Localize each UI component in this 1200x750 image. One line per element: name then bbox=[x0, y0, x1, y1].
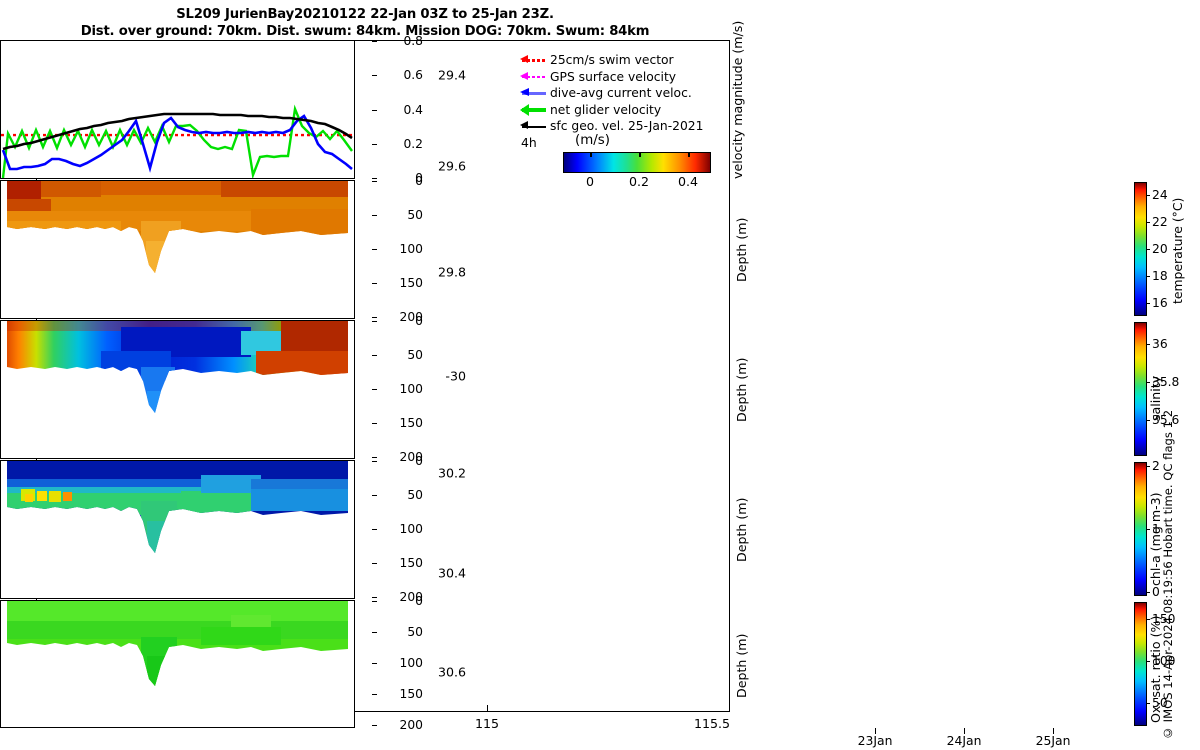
oxygen-ytick-4: 200 bbox=[377, 718, 423, 732]
chla-ytick-2: 100 bbox=[377, 522, 423, 536]
velocity-ytick-2: 0.4 bbox=[377, 103, 423, 117]
legend-item-gps-surface-velocity: GPS surface velocity bbox=[520, 69, 720, 86]
copyright-notice: © IMOS 14-Apr-2024 08:19:56 Hobart time.… bbox=[1161, 410, 1175, 740]
temperature-panel-ylabel: Depth (m) bbox=[734, 190, 749, 310]
temperature-cbar-lab-1: 18 bbox=[1152, 269, 1168, 283]
temperature-cbar-lab-0: 16 bbox=[1152, 296, 1168, 310]
time-tick-1: 24Jan bbox=[947, 733, 982, 748]
temperature-section-panel[interactable] bbox=[0, 180, 355, 319]
salinity-ytick-0: 0 bbox=[377, 314, 423, 328]
temperature-ytick-1: 50 bbox=[377, 208, 423, 222]
map-colorbar-tick-1: 0.2 bbox=[629, 174, 649, 189]
dive-avg-current-icon bbox=[520, 87, 550, 99]
temperature-cbar-lab-2: 20 bbox=[1152, 242, 1168, 256]
velocity-ytick-1: 0.2 bbox=[377, 137, 423, 151]
oxygen-ytick-0: 0 bbox=[377, 594, 423, 608]
oxygen-section-plot bbox=[1, 601, 354, 727]
oxygen-ytick-3: 150 bbox=[377, 687, 423, 701]
sfc-geo-velocity-icon bbox=[520, 120, 550, 132]
temperature-field bbox=[1, 181, 354, 318]
legend-label-gps-surface-velocity: GPS surface velocity bbox=[550, 70, 676, 84]
salinity-ytick-1: 50 bbox=[377, 348, 423, 362]
legend-label-swim-vector: 25cm/s swim vector bbox=[550, 53, 674, 67]
chla-ytick-1: 50 bbox=[377, 488, 423, 502]
oxygen-ytick-1: 50 bbox=[377, 625, 423, 639]
temperature-cbar-lab-4: 24 bbox=[1152, 188, 1168, 202]
oxygen-ytick-2: 100 bbox=[377, 656, 423, 670]
map-colorbar-tick-0: 0 bbox=[586, 174, 594, 189]
oxygen-section-panel[interactable] bbox=[0, 600, 355, 728]
temperature-cbar-title: temperature (°C) bbox=[1170, 186, 1185, 316]
swim-vector-icon bbox=[520, 54, 550, 66]
chla-section-panel[interactable] bbox=[0, 460, 355, 599]
map-colorbar-title: (m/s) bbox=[575, 133, 610, 148]
oxygen-colorbar bbox=[1134, 602, 1147, 726]
salinity-section-panel[interactable] bbox=[0, 320, 355, 459]
velocity-ytick-3: 0.6 bbox=[377, 68, 423, 82]
temperature-ytick-2: 100 bbox=[377, 242, 423, 256]
temperature-ytick-3: 150 bbox=[377, 276, 423, 290]
map-xtick-2: 115 bbox=[475, 716, 499, 731]
time-tick-2: 25Jan bbox=[1036, 733, 1071, 748]
chla-field bbox=[1, 461, 354, 598]
chla-ytick-0: 0 bbox=[377, 454, 423, 468]
legend-item-net-glider-velocity: net glider velocity bbox=[520, 102, 720, 119]
legend-item-sfc-geostrophic-velocity: sfc geo. vel. 25-Jan-2021 bbox=[520, 118, 720, 135]
legend-label-net-glider-velocity: net glider velocity bbox=[550, 103, 661, 117]
net-glider-velocity-icon bbox=[520, 104, 550, 116]
legend-item-swim-vector: 25cm/s swim vector bbox=[520, 52, 720, 69]
oxygen-panel-ylabel: Depth (m) bbox=[734, 608, 749, 723]
velocity-ytick-4: 0.8 bbox=[377, 34, 423, 48]
salinity-ytick-2: 100 bbox=[377, 382, 423, 396]
salinity-colorbar bbox=[1134, 322, 1147, 456]
title-line-2: Dist. over ground: 70km. Dist. swum: 84k… bbox=[0, 23, 730, 40]
salinity-ytick-3: 150 bbox=[377, 416, 423, 430]
title-line-1: SL209 JurienBay20210122 22-Jan 03Z to 25… bbox=[0, 6, 730, 23]
salinity-cbar-lab-2: 36 bbox=[1152, 337, 1168, 351]
map-xtick-3: 115.5 bbox=[694, 716, 730, 731]
legend-label-dive-avg-current: dive-avg current veloc. bbox=[550, 86, 692, 100]
time-tick-0: 23Jan bbox=[858, 733, 893, 748]
gps-surface-velocity-icon bbox=[520, 71, 550, 83]
salinity-panel-ylabel: Depth (m) bbox=[734, 330, 749, 450]
velocity-panel-ylabel: velocity magnitude (m/s) bbox=[730, 40, 745, 179]
legend-interval-label: 4h bbox=[521, 135, 537, 150]
legend-label-sfc-geostrophic-velocity: sfc geo. vel. 25-Jan-2021 bbox=[550, 119, 703, 133]
map-colorbar bbox=[563, 152, 711, 173]
oxygen-field bbox=[1, 601, 354, 727]
map-legend: 25cm/s swim vector GPS surface velocity … bbox=[520, 52, 720, 135]
salinity-field bbox=[1, 321, 354, 427]
chla-cbar-lab-2: 2 bbox=[1152, 459, 1160, 473]
temperature-ytick-0: 0 bbox=[377, 174, 423, 188]
legend-item-dive-avg-current: dive-avg current veloc. bbox=[520, 85, 720, 102]
chla-ytick-3: 150 bbox=[377, 556, 423, 570]
salinity-section-plot bbox=[1, 321, 354, 458]
velocity-timeseries-plot bbox=[1, 41, 354, 178]
map-colorbar-tick-2: 0.4 bbox=[678, 174, 698, 189]
temperature-cbar-lab-3: 22 bbox=[1152, 215, 1168, 229]
temperature-section-plot bbox=[1, 181, 354, 318]
velocity-timeseries-panel[interactable] bbox=[0, 40, 355, 179]
chla-panel-ylabel: Depth (m) bbox=[734, 470, 749, 590]
chla-section-plot bbox=[1, 461, 354, 598]
page-title: SL209 JurienBay20210122 22-Jan 03Z to 25… bbox=[0, 6, 730, 40]
